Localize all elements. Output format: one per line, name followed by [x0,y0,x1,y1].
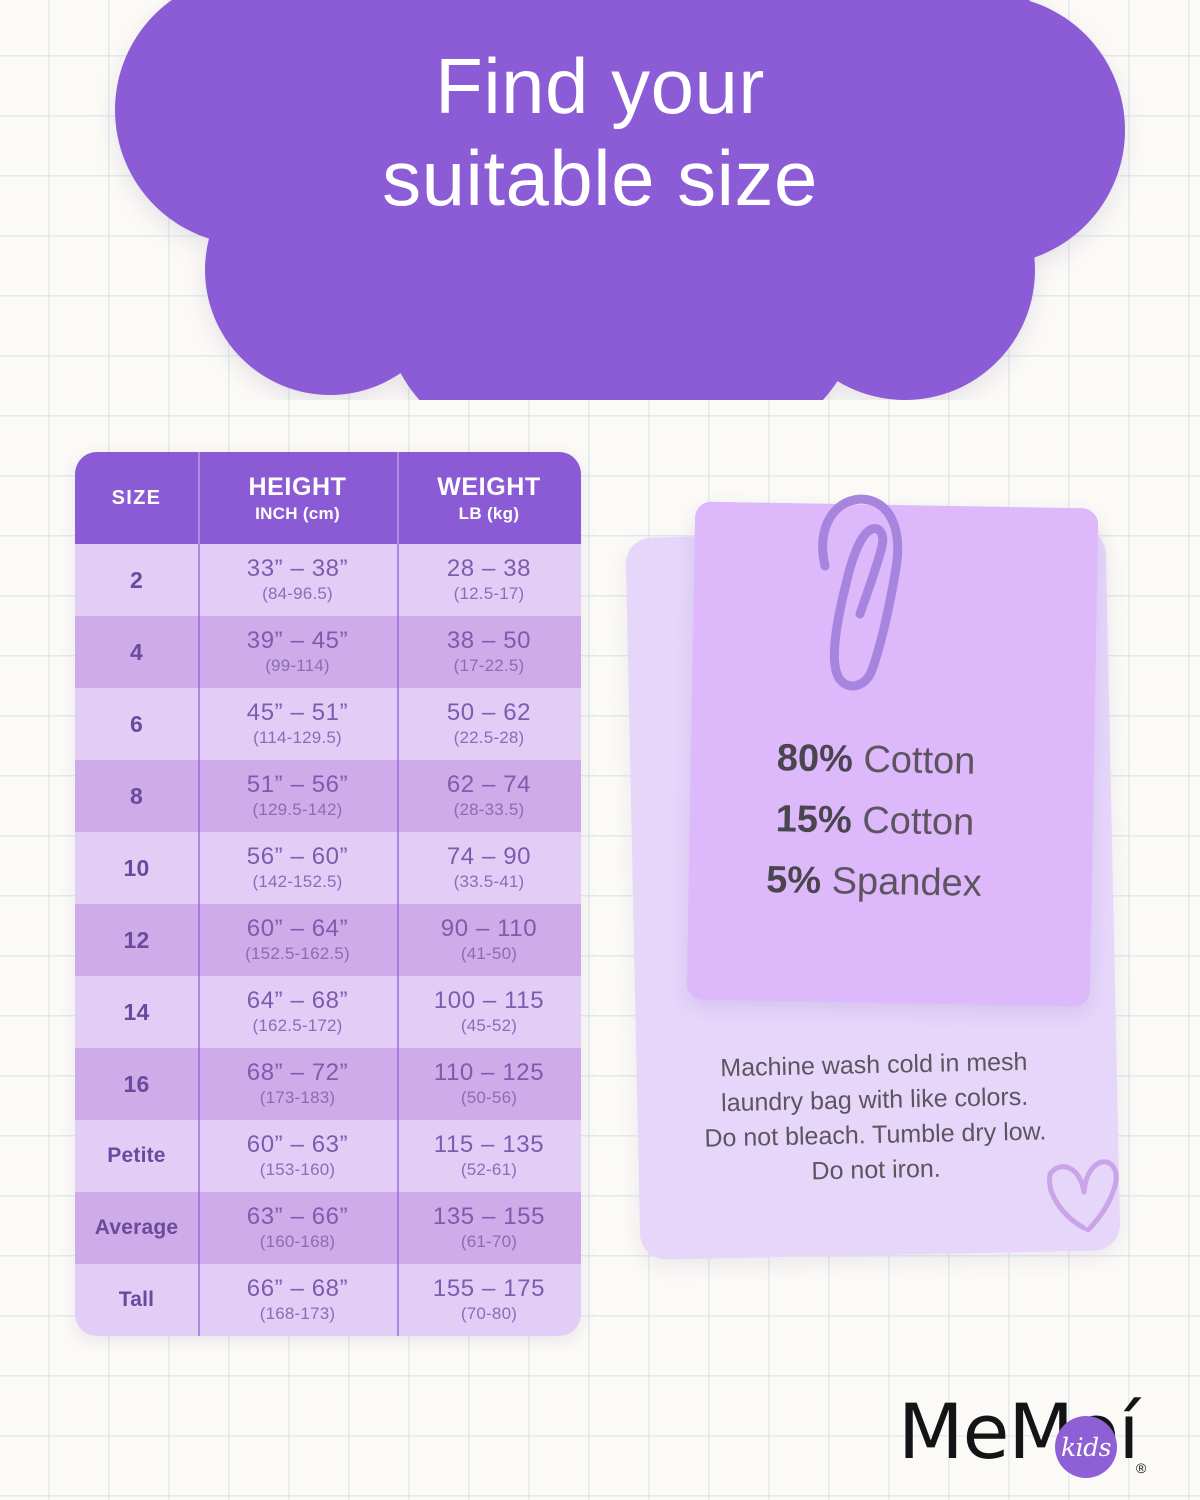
column-divider-1 [198,616,200,688]
cell-size: 8 [75,760,198,832]
cell-weight: 62 – 74(28-33.5) [397,760,581,832]
fabric-line: 80% Cotton [656,726,1097,794]
height-inches: 39” – 45” [247,628,348,653]
table-row: 1668” – 72”(173-183)110 – 125(50-56) [75,1048,581,1120]
size-value: 6 [130,711,143,738]
cell-weight: 110 – 125(50-56) [397,1048,581,1120]
height-inches: 63” – 66” [247,1204,348,1229]
column-divider-1 [198,1120,200,1192]
column-divider-2 [397,544,399,616]
column-divider-1 [198,1048,200,1120]
fabric-line: 15% Cotton [655,787,1096,855]
cell-height: 63” – 66”(160-168) [198,1192,397,1264]
height-inches: 64” – 68” [247,988,348,1013]
cell-size: 4 [75,616,198,688]
weight-kg: (70-80) [461,1304,517,1324]
column-divider-1 [198,544,200,616]
column-divider-2 [397,616,399,688]
weight-lb: 38 – 50 [447,628,531,653]
height-cm: (142-152.5) [252,872,342,892]
cell-height: 68” – 72”(173-183) [198,1048,397,1120]
column-divider-2 [397,452,399,544]
column-header-height: HEIGHT INCH (cm) [198,452,397,544]
table-row: Tall66” – 68”(168-173)155 – 175(70-80) [75,1264,581,1336]
height-cm: (173-183) [260,1088,336,1108]
kids-badge-label: kids [1061,1433,1111,1462]
fabric-material: Cotton [862,800,975,844]
size-value: Petite [107,1144,165,1168]
height-inches: 45” – 51” [247,700,348,725]
fabric-percent: 15% [775,798,852,841]
cell-weight: 28 – 38(12.5-17) [397,544,581,616]
cell-height: 51” – 56”(129.5-142) [198,760,397,832]
table-row: 1056” – 60”(142-152.5)74 – 90(33.5-41) [75,832,581,904]
registered-trademark-icon: ® [1136,1460,1146,1476]
weight-kg: (61-70) [461,1232,517,1252]
fabric-material: Spandex [831,860,982,905]
weight-lb: 135 – 155 [433,1204,545,1229]
cell-height: 45” – 51”(114-129.5) [198,688,397,760]
height-cm: (99-114) [265,656,330,676]
cell-height: 39” – 45”(99-114) [198,616,397,688]
column-divider-1 [198,760,200,832]
height-cm: (162.5-172) [252,1016,342,1036]
column-divider-2 [397,1264,399,1336]
weight-kg: (45-52) [461,1016,517,1036]
height-cm: (84-96.5) [262,584,333,604]
table-row: 645” – 51”(114-129.5)50 – 62(22.5-28) [75,688,581,760]
column-divider-1 [198,452,200,544]
cell-size: 16 [75,1048,198,1120]
size-value: 8 [130,783,143,810]
cell-height: 64” – 68”(162.5-172) [198,976,397,1048]
column-header-weight: WEIGHT LB (kg) [397,452,581,544]
weight-lb: 62 – 74 [447,772,531,797]
cell-height: 66” – 68”(168-173) [198,1264,397,1336]
height-cm: (114-129.5) [253,728,342,748]
column-divider-1 [198,904,200,976]
column-header-size-label: SIZE [75,487,198,510]
column-divider-2 [397,904,399,976]
cell-weight: 38 – 50(17-22.5) [397,616,581,688]
size-value: 2 [130,567,143,594]
column-divider-1 [198,1264,200,1336]
size-value: 16 [124,1071,150,1098]
weight-kg: (33.5-41) [454,872,525,892]
height-inches: 51” – 56” [247,772,348,797]
table-body: 233” – 38”(84-96.5)28 – 38(12.5-17)439” … [75,544,581,1336]
cell-weight: 74 – 90(33.5-41) [397,832,581,904]
kids-badge: kids [1055,1416,1117,1478]
cell-size: Average [75,1192,198,1264]
size-chart-infographic: Find your suitable size SIZE HEIGHT INCH… [0,0,1200,1500]
cell-height: 56” – 60”(142-152.5) [198,832,397,904]
column-header-size: SIZE [75,452,198,544]
paperclip-icon [808,488,918,698]
cell-weight: 50 – 62(22.5-28) [397,688,581,760]
weight-lb: 100 – 115 [434,988,544,1013]
weight-lb: 110 – 125 [434,1060,544,1085]
cell-weight: 100 – 115(45-52) [397,976,581,1048]
weight-kg: (52-61) [461,1160,517,1180]
cell-weight: 135 – 155(61-70) [397,1192,581,1264]
table-row: 1260” – 64”(152.5-162.5)90 – 110(41-50) [75,904,581,976]
height-cm: (152.5-162.5) [245,944,350,964]
column-divider-2 [397,1048,399,1120]
weight-lb: 50 – 62 [447,700,531,725]
column-divider-1 [198,976,200,1048]
height-cm: (153-160) [260,1160,336,1180]
cell-size: 2 [75,544,198,616]
cell-height: 60” – 63”(153-160) [198,1120,397,1192]
weight-kg: (17-22.5) [454,656,525,676]
column-header-height-unit: INCH (cm) [255,504,340,524]
column-header-height-label: HEIGHT [248,473,346,502]
column-header-weight-label: WEIGHT [437,473,541,502]
brand-logo: MeMoí kids ® [898,1394,1148,1486]
height-cm: (129.5-142) [252,800,342,820]
column-divider-2 [397,976,399,1048]
cell-size: 12 [75,904,198,976]
height-inches: 66” – 68” [247,1276,348,1301]
weight-kg: (12.5-17) [454,584,525,604]
height-cm: (168-173) [260,1304,336,1324]
weight-lb: 28 – 38 [447,556,531,581]
size-chart-table: SIZE HEIGHT INCH (cm) WEIGHT LB (kg) 233… [75,452,581,1336]
size-value: Average [95,1216,179,1240]
weight-kg: (50-56) [461,1088,517,1108]
column-divider-1 [198,1192,200,1264]
page-title: Find your suitable size [0,40,1200,224]
height-inches: 60” – 63” [247,1132,348,1157]
column-divider-1 [198,832,200,904]
weight-lb: 90 – 110 [441,916,537,941]
size-value: Tall [119,1288,154,1312]
cell-size: Petite [75,1120,198,1192]
height-inches: 56” – 60” [247,844,348,869]
height-inches: 60” – 64” [247,916,348,941]
cell-size: 6 [75,688,198,760]
cell-weight: 115 – 135(52-61) [397,1120,581,1192]
table-row: 439” – 45”(99-114)38 – 50(17-22.5) [75,616,581,688]
size-value: 4 [130,639,143,666]
column-divider-2 [397,688,399,760]
table-row: Average63” – 66”(160-168)135 – 155(61-70… [75,1192,581,1264]
weight-lb: 74 – 90 [447,844,531,869]
cell-height: 60” – 64”(152.5-162.5) [198,904,397,976]
fabric-percent: 5% [766,859,822,902]
table-row: 1464” – 68”(162.5-172)100 – 115(45-52) [75,976,581,1048]
cell-weight: 155 – 175(70-80) [397,1264,581,1336]
weight-kg: (28-33.5) [454,800,525,820]
height-cm: (160-168) [260,1232,336,1252]
weight-kg: (41-50) [461,944,517,964]
cell-size: 14 [75,976,198,1048]
cell-size: Tall [75,1264,198,1336]
fabric-composition-list: 80% Cotton15% Cotton5% Spandex [653,726,1096,916]
size-value: 10 [124,855,150,882]
column-divider-2 [397,832,399,904]
table-header-row: SIZE HEIGHT INCH (cm) WEIGHT LB (kg) [75,452,581,544]
fabric-line: 5% Spandex [653,848,1094,916]
column-divider-1 [198,688,200,760]
cell-weight: 90 – 110(41-50) [397,904,581,976]
table-row: 851” – 56”(129.5-142)62 – 74(28-33.5) [75,760,581,832]
column-divider-2 [397,1192,399,1264]
size-value: 14 [124,999,150,1026]
table-row: Petite60” – 63”(153-160)115 – 135(52-61) [75,1120,581,1192]
cell-height: 33” – 38”(84-96.5) [198,544,397,616]
height-inches: 33” – 38” [247,556,348,581]
column-divider-2 [397,1120,399,1192]
column-header-weight-unit: LB (kg) [459,504,520,524]
column-divider-2 [397,760,399,832]
weight-lb: 115 – 135 [434,1132,544,1157]
height-inches: 68” – 72” [247,1060,348,1085]
fabric-material: Cotton [863,739,976,783]
cell-size: 10 [75,832,198,904]
weight-lb: 155 – 175 [433,1276,545,1301]
weight-kg: (22.5-28) [454,728,525,748]
size-value: 12 [124,927,150,954]
care-instructions: Machine wash cold in mesh laundry bag wi… [649,1043,1102,1192]
fabric-percent: 80% [776,737,853,780]
table-row: 233” – 38”(84-96.5)28 – 38(12.5-17) [75,544,581,616]
